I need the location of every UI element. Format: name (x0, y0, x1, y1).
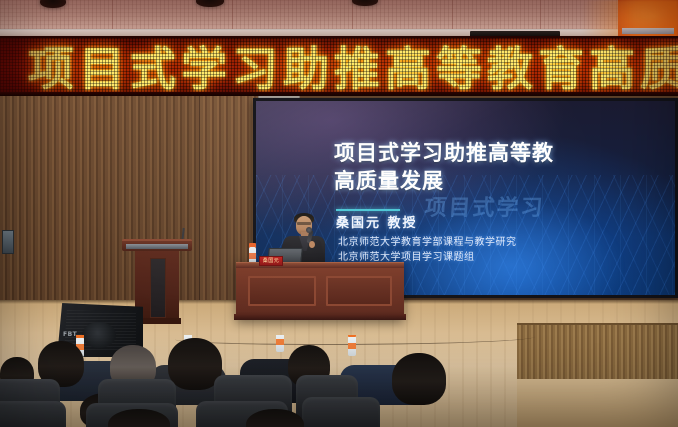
table-panel-molding (248, 276, 316, 306)
ceiling-light-reflector (622, 28, 674, 34)
slide-title-line-2: 高质量发展 (334, 167, 444, 196)
led-banner-frame-edge (0, 92, 678, 96)
slide-background-watermark: 项目式学习 (422, 190, 660, 240)
auditorium-seat (0, 401, 66, 427)
led-banner-vignette (0, 38, 678, 96)
slide-title-line-1: 项目式学习助推高等教 (334, 139, 554, 168)
lecture-hall-photo: 项目式学习助推高等教育高质 项目式学习 项目式学习助推高等教 高质量发展 桑国元… (0, 0, 678, 427)
ceiling (0, 0, 678, 38)
table-base-trim (234, 314, 406, 320)
slide-speaker-name: 桑国元 教授 (336, 215, 418, 233)
presenter-hand (309, 241, 315, 248)
wall-outlet (2, 230, 14, 254)
name-placard: 桑国元 (259, 256, 283, 266)
led-banner: 项目式学习助推高等教育高质 (0, 36, 678, 96)
audience-water-bottle (276, 335, 284, 352)
photographer-head (392, 353, 446, 405)
slide-org-line-1: 北京师范大学教育学部课程与教学研究 (338, 235, 517, 250)
water-bottle-label (249, 253, 256, 259)
audience-area: 礼堂 (0, 335, 678, 427)
name-placard-text: 桑国元 (260, 257, 282, 265)
microphone-head-icon (306, 227, 312, 233)
slide-accent-rule (336, 209, 400, 211)
presenter-table (236, 262, 404, 320)
lectern-inset-panel (150, 258, 166, 318)
audience-water-bottle (348, 336, 356, 356)
auditorium-seat (302, 397, 380, 427)
lectern-control-panel (126, 244, 188, 249)
presenter-glasses (297, 222, 311, 225)
table-panel-molding (326, 276, 392, 306)
